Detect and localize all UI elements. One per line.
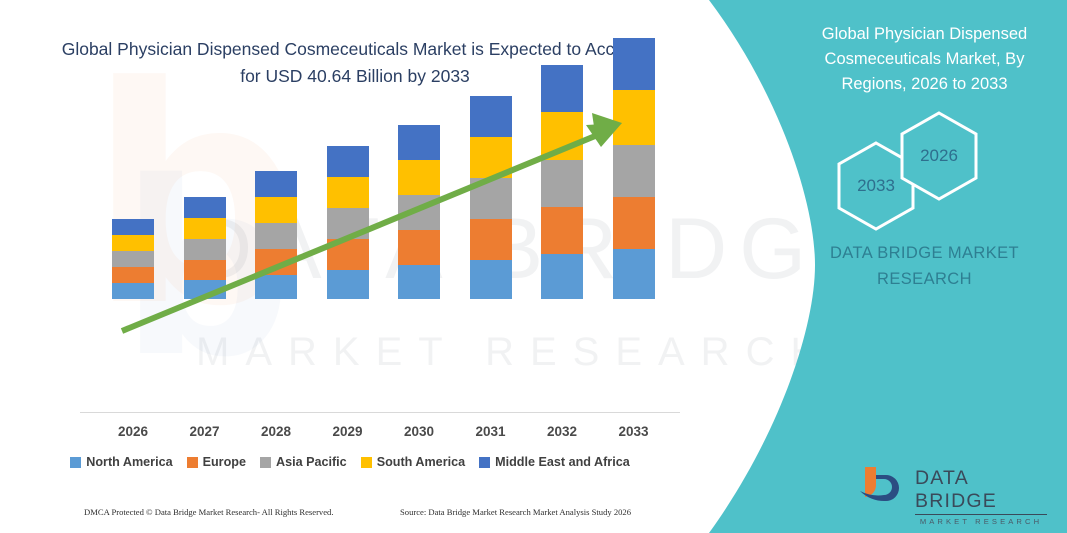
bar-column-2027[interactable] <box>184 197 226 299</box>
logo-main-text: DATA BRIDGE <box>915 467 1047 515</box>
bar-segment-south-america-2031[interactable] <box>470 137 512 178</box>
x-axis-label-2031: 2031 <box>461 424 521 439</box>
bar-segment-south-america-2028[interactable] <box>255 197 297 223</box>
hexagon-2026-label: 2026 <box>898 110 980 202</box>
bar-segment-south-america-2032[interactable] <box>541 112 583 160</box>
legend-swatch-icon <box>479 457 490 468</box>
legend-swatch-icon <box>260 457 271 468</box>
x-axis-label-2028: 2028 <box>246 424 306 439</box>
teal-panel-content: Global Physician Dispensed Cosmeceutical… <box>780 0 1067 533</box>
bar-segment-north-america-2026[interactable] <box>112 283 154 299</box>
legend-label: Asia Pacific <box>276 455 347 469</box>
bar-segment-asia-pacific-2031[interactable] <box>470 178 512 219</box>
x-axis-label-2033: 2033 <box>604 424 664 439</box>
bar-segment-asia-pacific-2030[interactable] <box>398 195 440 230</box>
bar-segment-europe-2033[interactable] <box>613 197 655 249</box>
x-axis-labels: 20262027202820292030203120322033 <box>0 424 700 446</box>
bar-column-2032[interactable] <box>541 65 583 299</box>
legend-swatch-icon <box>187 457 198 468</box>
bar-column-2030[interactable] <box>398 125 440 299</box>
legend-label: Europe <box>203 455 246 469</box>
bar-segment-south-america-2033[interactable] <box>613 90 655 145</box>
bar-segment-north-america-2033[interactable] <box>613 249 655 299</box>
x-axis-label-2026: 2026 <box>103 424 163 439</box>
legend-swatch-icon <box>361 457 372 468</box>
bar-segment-middle-east-and-africa-2026[interactable] <box>112 219 154 235</box>
bar-segment-south-america-2029[interactable] <box>327 177 369 208</box>
legend-item-south-america[interactable]: South America <box>361 455 465 469</box>
data-bridge-mark-icon <box>857 465 909 509</box>
x-axis-label-2027: 2027 <box>175 424 235 439</box>
bar-segment-asia-pacific-2032[interactable] <box>541 160 583 207</box>
bar-segment-south-america-2027[interactable] <box>184 218 226 239</box>
bar-segment-middle-east-and-africa-2032[interactable] <box>541 65 583 112</box>
bar-segment-middle-east-and-africa-2033[interactable] <box>613 38 655 90</box>
bar-segment-europe-2032[interactable] <box>541 207 583 254</box>
panel-title: Global Physician Dispensed Cosmeceutical… <box>792 22 1057 97</box>
bar-column-2028[interactable] <box>255 171 297 299</box>
bar-segment-asia-pacific-2028[interactable] <box>255 223 297 249</box>
bar-segment-south-america-2030[interactable] <box>398 160 440 195</box>
bar-segment-asia-pacific-2027[interactable] <box>184 239 226 260</box>
bar-segment-europe-2029[interactable] <box>327 239 369 270</box>
legend-item-middle-east-and-africa[interactable]: Middle East and Africa <box>479 455 630 469</box>
legend-item-europe[interactable]: Europe <box>187 455 246 469</box>
bar-column-2033[interactable] <box>613 38 655 299</box>
bar-segment-europe-2030[interactable] <box>398 230 440 265</box>
bar-segment-north-america-2027[interactable] <box>184 280 226 299</box>
bar-segment-europe-2026[interactable] <box>112 267 154 283</box>
legend-label: Middle East and Africa <box>495 455 630 469</box>
brand-logo: DATA BRIDGE MARKET RESEARCH <box>857 463 1047 511</box>
bar-segment-south-america-2026[interactable] <box>112 235 154 251</box>
hexagon-2026: 2026 <box>898 110 980 202</box>
panel-brand-text: DATA BRIDGE MARKET RESEARCH <box>794 240 1055 292</box>
infographic-page: b b DATA BRIDGE MARKET RESEARCH Global P… <box>0 0 1067 533</box>
bar-segment-middle-east-and-africa-2030[interactable] <box>398 125 440 160</box>
bar-segment-middle-east-and-africa-2028[interactable] <box>255 171 297 197</box>
chart-plot-area <box>0 0 700 420</box>
bar-column-2029[interactable] <box>327 146 369 299</box>
bar-segment-asia-pacific-2029[interactable] <box>327 208 369 239</box>
bar-segment-europe-2027[interactable] <box>184 260 226 280</box>
bar-segment-asia-pacific-2026[interactable] <box>112 251 154 267</box>
footer-copyright: DMCA Protected © Data Bridge Market Rese… <box>84 507 334 517</box>
bar-segment-europe-2031[interactable] <box>470 219 512 260</box>
legend-label: South America <box>377 455 465 469</box>
bar-column-2031[interactable] <box>470 96 512 299</box>
bar-segment-middle-east-and-africa-2029[interactable] <box>327 146 369 177</box>
bar-segment-asia-pacific-2033[interactable] <box>613 145 655 197</box>
bar-segment-middle-east-and-africa-2031[interactable] <box>470 96 512 137</box>
legend-swatch-icon <box>70 457 81 468</box>
bar-segment-north-america-2030[interactable] <box>398 265 440 299</box>
bar-segment-north-america-2028[interactable] <box>255 275 297 299</box>
footer: DMCA Protected © Data Bridge Market Rese… <box>0 507 700 527</box>
chart-legend: North AmericaEuropeAsia PacificSouth Ame… <box>0 455 700 469</box>
bar-column-2026[interactable] <box>112 219 154 299</box>
logo-text: DATA BRIDGE MARKET RESEARCH <box>915 467 1047 526</box>
x-axis-line <box>80 412 680 413</box>
legend-label: North America <box>86 455 172 469</box>
bar-segment-middle-east-and-africa-2027[interactable] <box>184 197 226 218</box>
legend-item-asia-pacific[interactable]: Asia Pacific <box>260 455 347 469</box>
bar-segment-north-america-2029[interactable] <box>327 270 369 299</box>
x-axis-label-2029: 2029 <box>318 424 378 439</box>
bar-segment-north-america-2032[interactable] <box>541 254 583 299</box>
footer-source: Source: Data Bridge Market Research Mark… <box>400 507 631 517</box>
legend-item-north-america[interactable]: North America <box>70 455 172 469</box>
bar-segment-north-america-2031[interactable] <box>470 260 512 299</box>
bar-segment-europe-2028[interactable] <box>255 249 297 275</box>
hexagon-group: 2033 2026 <box>780 110 1067 215</box>
x-axis-label-2030: 2030 <box>389 424 449 439</box>
x-axis-label-2032: 2032 <box>532 424 592 439</box>
logo-sub-text: MARKET RESEARCH <box>915 517 1047 526</box>
